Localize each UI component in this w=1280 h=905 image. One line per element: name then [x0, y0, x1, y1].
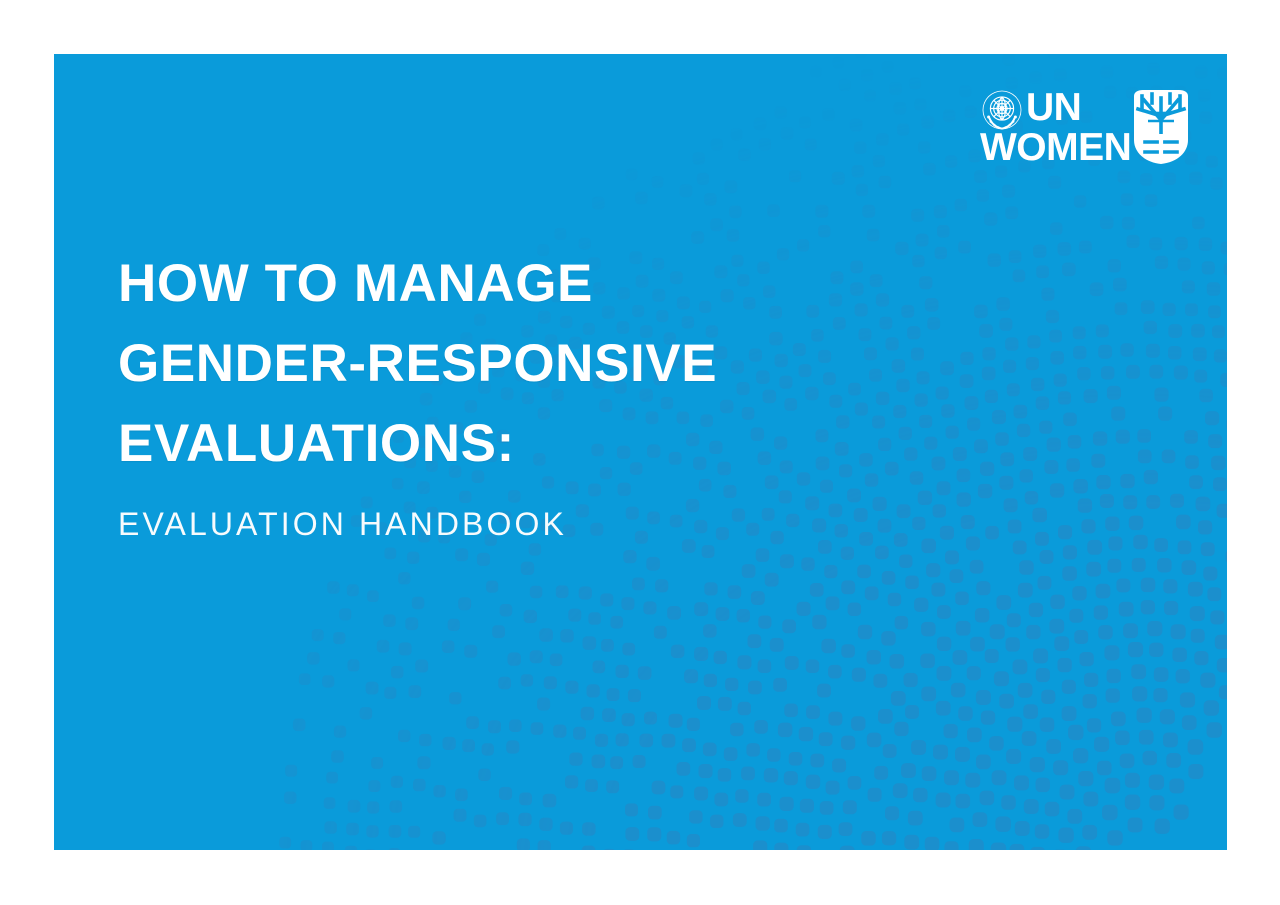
- logo-text-women: WOMEN: [980, 126, 1131, 169]
- cover-page: UN WOMEN: [0, 0, 1280, 905]
- un-women-mark-icon: [1134, 90, 1188, 164]
- cover-title-line-2: GENDER-RESPONSIVE: [118, 324, 878, 404]
- cover-subtitle: EVALUATION HANDBOOK: [118, 500, 878, 548]
- cover-title-block: HOW TO MANAGE GENDER-RESPONSIVE EVALUATI…: [118, 244, 878, 548]
- cover-title-line-1: HOW TO MANAGE: [118, 244, 878, 324]
- un-women-logo: UN WOMEN: [980, 84, 1205, 194]
- logo-text-un: UN: [1026, 86, 1081, 129]
- un-emblem-icon: [983, 91, 1022, 130]
- cover-panel: UN WOMEN: [54, 54, 1227, 850]
- cover-title-line-3: EVALUATIONS:: [118, 404, 878, 484]
